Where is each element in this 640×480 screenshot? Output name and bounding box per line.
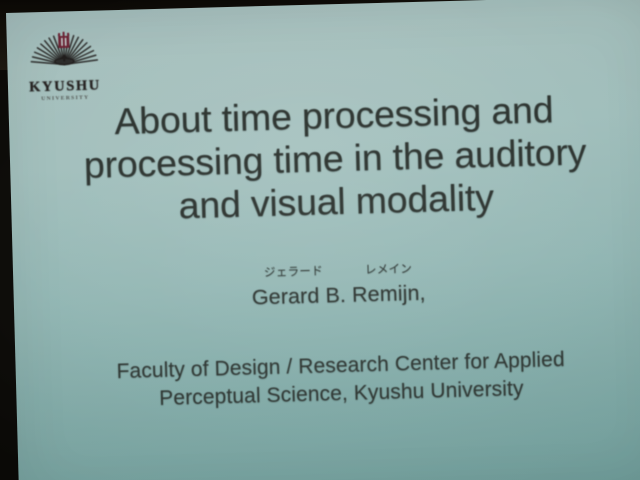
- slide-title: About time processing and processing tim…: [38, 86, 631, 231]
- kyushu-university-logo: KYUSHU UNIVERSITY: [17, 27, 111, 109]
- furigana-given: ジェラード: [264, 263, 323, 281]
- projection-screen: KYUSHU UNIVERSITY About time processing …: [6, 0, 640, 480]
- slide-surface: KYUSHU UNIVERSITY About time processing …: [6, 0, 640, 480]
- kyushu-seal-icon: [17, 27, 110, 81]
- projected-slide-photo: KYUSHU UNIVERSITY About time processing …: [0, 0, 640, 480]
- author-affiliation: Faculty of Design / Research Center for …: [45, 344, 636, 416]
- crest-icon: [58, 32, 69, 48]
- author-block: ジェラードレメイン Gerard B. Remijn,: [43, 254, 634, 316]
- furigana-family: レメイン: [365, 260, 413, 277]
